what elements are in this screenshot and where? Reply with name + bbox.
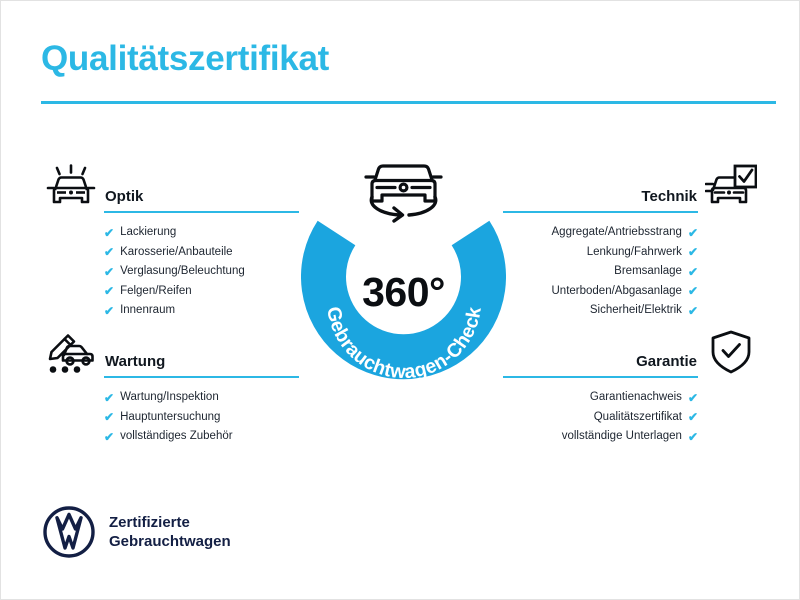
check-icon: ✔ xyxy=(104,411,114,423)
list-item: ✔vollständiges Zubehör xyxy=(104,427,341,447)
check-icon: ✔ xyxy=(688,431,698,443)
list-item-label: Aggregate/Antriebsstrang xyxy=(552,223,682,243)
check-icon: ✔ xyxy=(688,305,698,317)
check-list-wartung: ✔Wartung/Inspektion ✔Hauptuntersuchung ✔… xyxy=(41,388,341,447)
vw-text-line1: Zertifizierte xyxy=(109,513,231,532)
section-header-wartung: Wartung xyxy=(41,326,341,382)
list-item-label: Bremsanlage xyxy=(614,262,682,282)
check-icon: ✔ xyxy=(104,392,114,404)
section-title-garantie: Garantie xyxy=(636,353,697,370)
check-list-optik: ✔Lackierung ✔Karosserie/Anbauteile ✔Verg… xyxy=(41,223,341,321)
section-underline-optik xyxy=(104,211,299,213)
check-icon: ✔ xyxy=(104,431,114,443)
list-item-label: Garantienachweis xyxy=(590,388,682,408)
vw-logo-icon xyxy=(43,506,95,558)
section-wartung: Wartung ✔Wartung/Inspektion ✔Hauptunters… xyxy=(41,326,341,447)
list-item-label: vollständiges Zubehör xyxy=(120,427,233,447)
page-title: Qualitätszertifikat xyxy=(41,39,329,79)
list-item-label: Verglasung/Beleuchtung xyxy=(120,262,245,282)
section-garantie: Garantie Garantienachweis✔ Qualitätszert… xyxy=(461,326,761,447)
section-optik: Optik ✔Lackierung ✔Karosserie/Anbauteile… xyxy=(41,161,341,321)
list-item: Qualitätszertifikat✔ xyxy=(461,408,698,428)
check-list-technik: Aggregate/Antriebsstrang✔ Lenkung/Fahrwe… xyxy=(461,223,761,321)
badge-360-gebrauchtwagen-check: Gebrauchtwagen-Check xyxy=(301,151,506,401)
section-technik: Technik Aggregate/Antriebsstrang✔ Lenkun… xyxy=(461,161,761,321)
vw-certified-lockup: Zertifizierte Gebrauchtwagen xyxy=(43,506,231,558)
car-service-pencil-icon xyxy=(41,326,101,378)
vw-text-line2: Gebrauchtwagen xyxy=(109,532,231,551)
list-item-label: vollständige Unterlagen xyxy=(562,427,682,447)
list-item-label: Karosserie/Anbauteile xyxy=(120,243,233,263)
section-header-garantie: Garantie xyxy=(461,326,761,382)
check-icon: ✔ xyxy=(688,411,698,423)
list-item: vollständige Unterlagen✔ xyxy=(461,427,698,447)
check-icon: ✔ xyxy=(688,227,698,239)
check-icon: ✔ xyxy=(688,392,698,404)
check-icon: ✔ xyxy=(688,246,698,258)
list-item-label: Innenraum xyxy=(120,301,175,321)
list-item-label: Lenkung/Fahrwerk xyxy=(587,243,682,263)
check-list-garantie: Garantienachweis✔ Qualitätszertifikat✔ v… xyxy=(461,388,761,447)
section-title-optik: Optik xyxy=(105,188,143,205)
check-icon: ✔ xyxy=(104,246,114,258)
check-icon: ✔ xyxy=(104,285,114,297)
check-icon: ✔ xyxy=(688,266,698,278)
badge-number: 360° xyxy=(301,269,506,316)
section-underline-technik xyxy=(503,211,698,213)
car-rotation-icon xyxy=(366,166,441,221)
list-item-label: Felgen/Reifen xyxy=(120,282,192,302)
list-item-label: Hauptuntersuchung xyxy=(120,408,220,428)
list-item-label: Qualitätszertifikat xyxy=(594,408,682,428)
car-checkbox-icon xyxy=(701,161,761,213)
title-divider xyxy=(41,101,776,104)
check-icon: ✔ xyxy=(104,227,114,239)
list-item-label: Sicherheit/Elektrik xyxy=(590,301,682,321)
section-header-technik: Technik xyxy=(461,161,761,217)
section-underline-garantie xyxy=(503,376,698,378)
check-icon: ✔ xyxy=(104,266,114,278)
list-item-label: Unterboden/Abgasanlage xyxy=(552,282,682,302)
section-title-technik: Technik xyxy=(641,188,697,205)
list-item: ✔Hauptuntersuchung xyxy=(104,408,341,428)
section-underline-wartung xyxy=(104,376,299,378)
check-icon: ✔ xyxy=(688,285,698,297)
shield-check-icon xyxy=(701,326,761,378)
certificate-page: Qualitätszertifikat xyxy=(0,0,800,600)
check-icon: ✔ xyxy=(104,305,114,317)
vw-certified-text: Zertifizierte Gebrauchtwagen xyxy=(109,513,231,551)
list-item-label: Lackierung xyxy=(120,223,176,243)
car-shine-icon xyxy=(41,161,101,213)
section-title-wartung: Wartung xyxy=(105,353,165,370)
section-header-optik: Optik xyxy=(41,161,341,217)
list-item-label: Wartung/Inspektion xyxy=(120,388,219,408)
